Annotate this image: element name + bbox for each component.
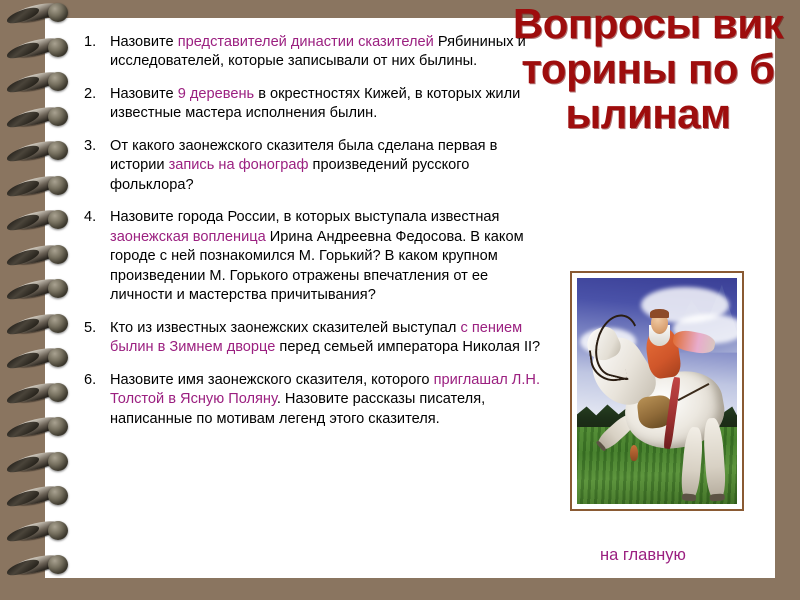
question-plain: Кто из известных заонежских сказителей в… bbox=[110, 320, 460, 336]
coil-wire-back bbox=[5, 177, 41, 199]
question-item: 2.Назовите 9 деревень в окрестностях Киж… bbox=[84, 85, 544, 124]
question-highlight: заонежская вопленица bbox=[110, 229, 266, 245]
rider-hat bbox=[650, 309, 669, 318]
home-link[interactable]: на главную bbox=[600, 546, 686, 565]
slide-canvas: Вопросы викторины по былинам 1.Назовите … bbox=[0, 0, 800, 600]
coil-wire-back bbox=[5, 384, 41, 406]
question-number: 5. bbox=[84, 319, 110, 358]
coil-wire-back bbox=[5, 522, 41, 544]
coil-wire-back bbox=[5, 5, 41, 27]
page-title: Вопросы викторины по былинам bbox=[512, 2, 784, 137]
coil-wire-back bbox=[5, 453, 41, 475]
question-text: Назовите представителей династии сказите… bbox=[110, 33, 544, 72]
bogatyr-illustration bbox=[577, 278, 737, 504]
question-item: 1.Назовите представителей династии скази… bbox=[84, 33, 544, 72]
question-text: Назовите города России, в которых выступ… bbox=[110, 208, 544, 305]
question-plain: Назовите bbox=[110, 34, 178, 50]
coil-wire-back bbox=[5, 350, 41, 372]
question-item: 4.Назовите города России, в которых выст… bbox=[84, 208, 544, 305]
coil-wire-back bbox=[5, 557, 41, 579]
coil-wire-back bbox=[5, 315, 41, 337]
question-number: 3. bbox=[84, 137, 110, 195]
question-number: 6. bbox=[84, 371, 110, 429]
coil-wire-back bbox=[5, 246, 41, 268]
question-item: 3.От какого заонежского сказителя была с… bbox=[84, 137, 544, 195]
bird-shape bbox=[630, 445, 638, 461]
question-text: Назовите 9 деревень в окрестностях Кижей… bbox=[110, 85, 544, 124]
coil-wire-back bbox=[5, 39, 41, 61]
coil-wire-back bbox=[5, 143, 41, 165]
question-plain: Назовите имя заонежского сказителя, кото… bbox=[110, 372, 434, 388]
question-highlight: запись на фонограф bbox=[169, 157, 309, 173]
coil-wire-back bbox=[5, 419, 41, 441]
coil-wire-back bbox=[5, 212, 41, 234]
question-highlight: представителей династии сказителей bbox=[178, 34, 434, 50]
question-plain: Назовите города России, в которых выступ… bbox=[110, 209, 499, 225]
question-number: 2. bbox=[84, 85, 110, 124]
hoof-shape bbox=[681, 494, 696, 502]
question-item: 5.Кто из известных заонежских сказителей… bbox=[84, 319, 544, 358]
question-plain: перед семьей императора Николая II? bbox=[275, 339, 540, 355]
question-text: Назовите имя заонежского сказителя, кото… bbox=[110, 371, 544, 429]
question-highlight: 9 деревень bbox=[178, 86, 254, 102]
coil-wire-back bbox=[5, 281, 41, 303]
question-text: Кто из известных заонежских сказителей в… bbox=[110, 319, 544, 358]
question-plain: Назовите bbox=[110, 86, 178, 102]
question-number: 1. bbox=[84, 33, 110, 72]
question-text: От какого заонежского сказителя была сде… bbox=[110, 137, 544, 195]
coil-wire-back bbox=[5, 108, 41, 130]
questions-list: 1.Назовите представителей династии скази… bbox=[84, 33, 544, 442]
coil-wire-back bbox=[5, 488, 41, 510]
coil-wire-back bbox=[5, 74, 41, 96]
illustration-frame bbox=[570, 271, 744, 511]
question-item: 6.Назовите имя заонежского сказителя, ко… bbox=[84, 371, 544, 429]
question-number: 4. bbox=[84, 208, 110, 305]
